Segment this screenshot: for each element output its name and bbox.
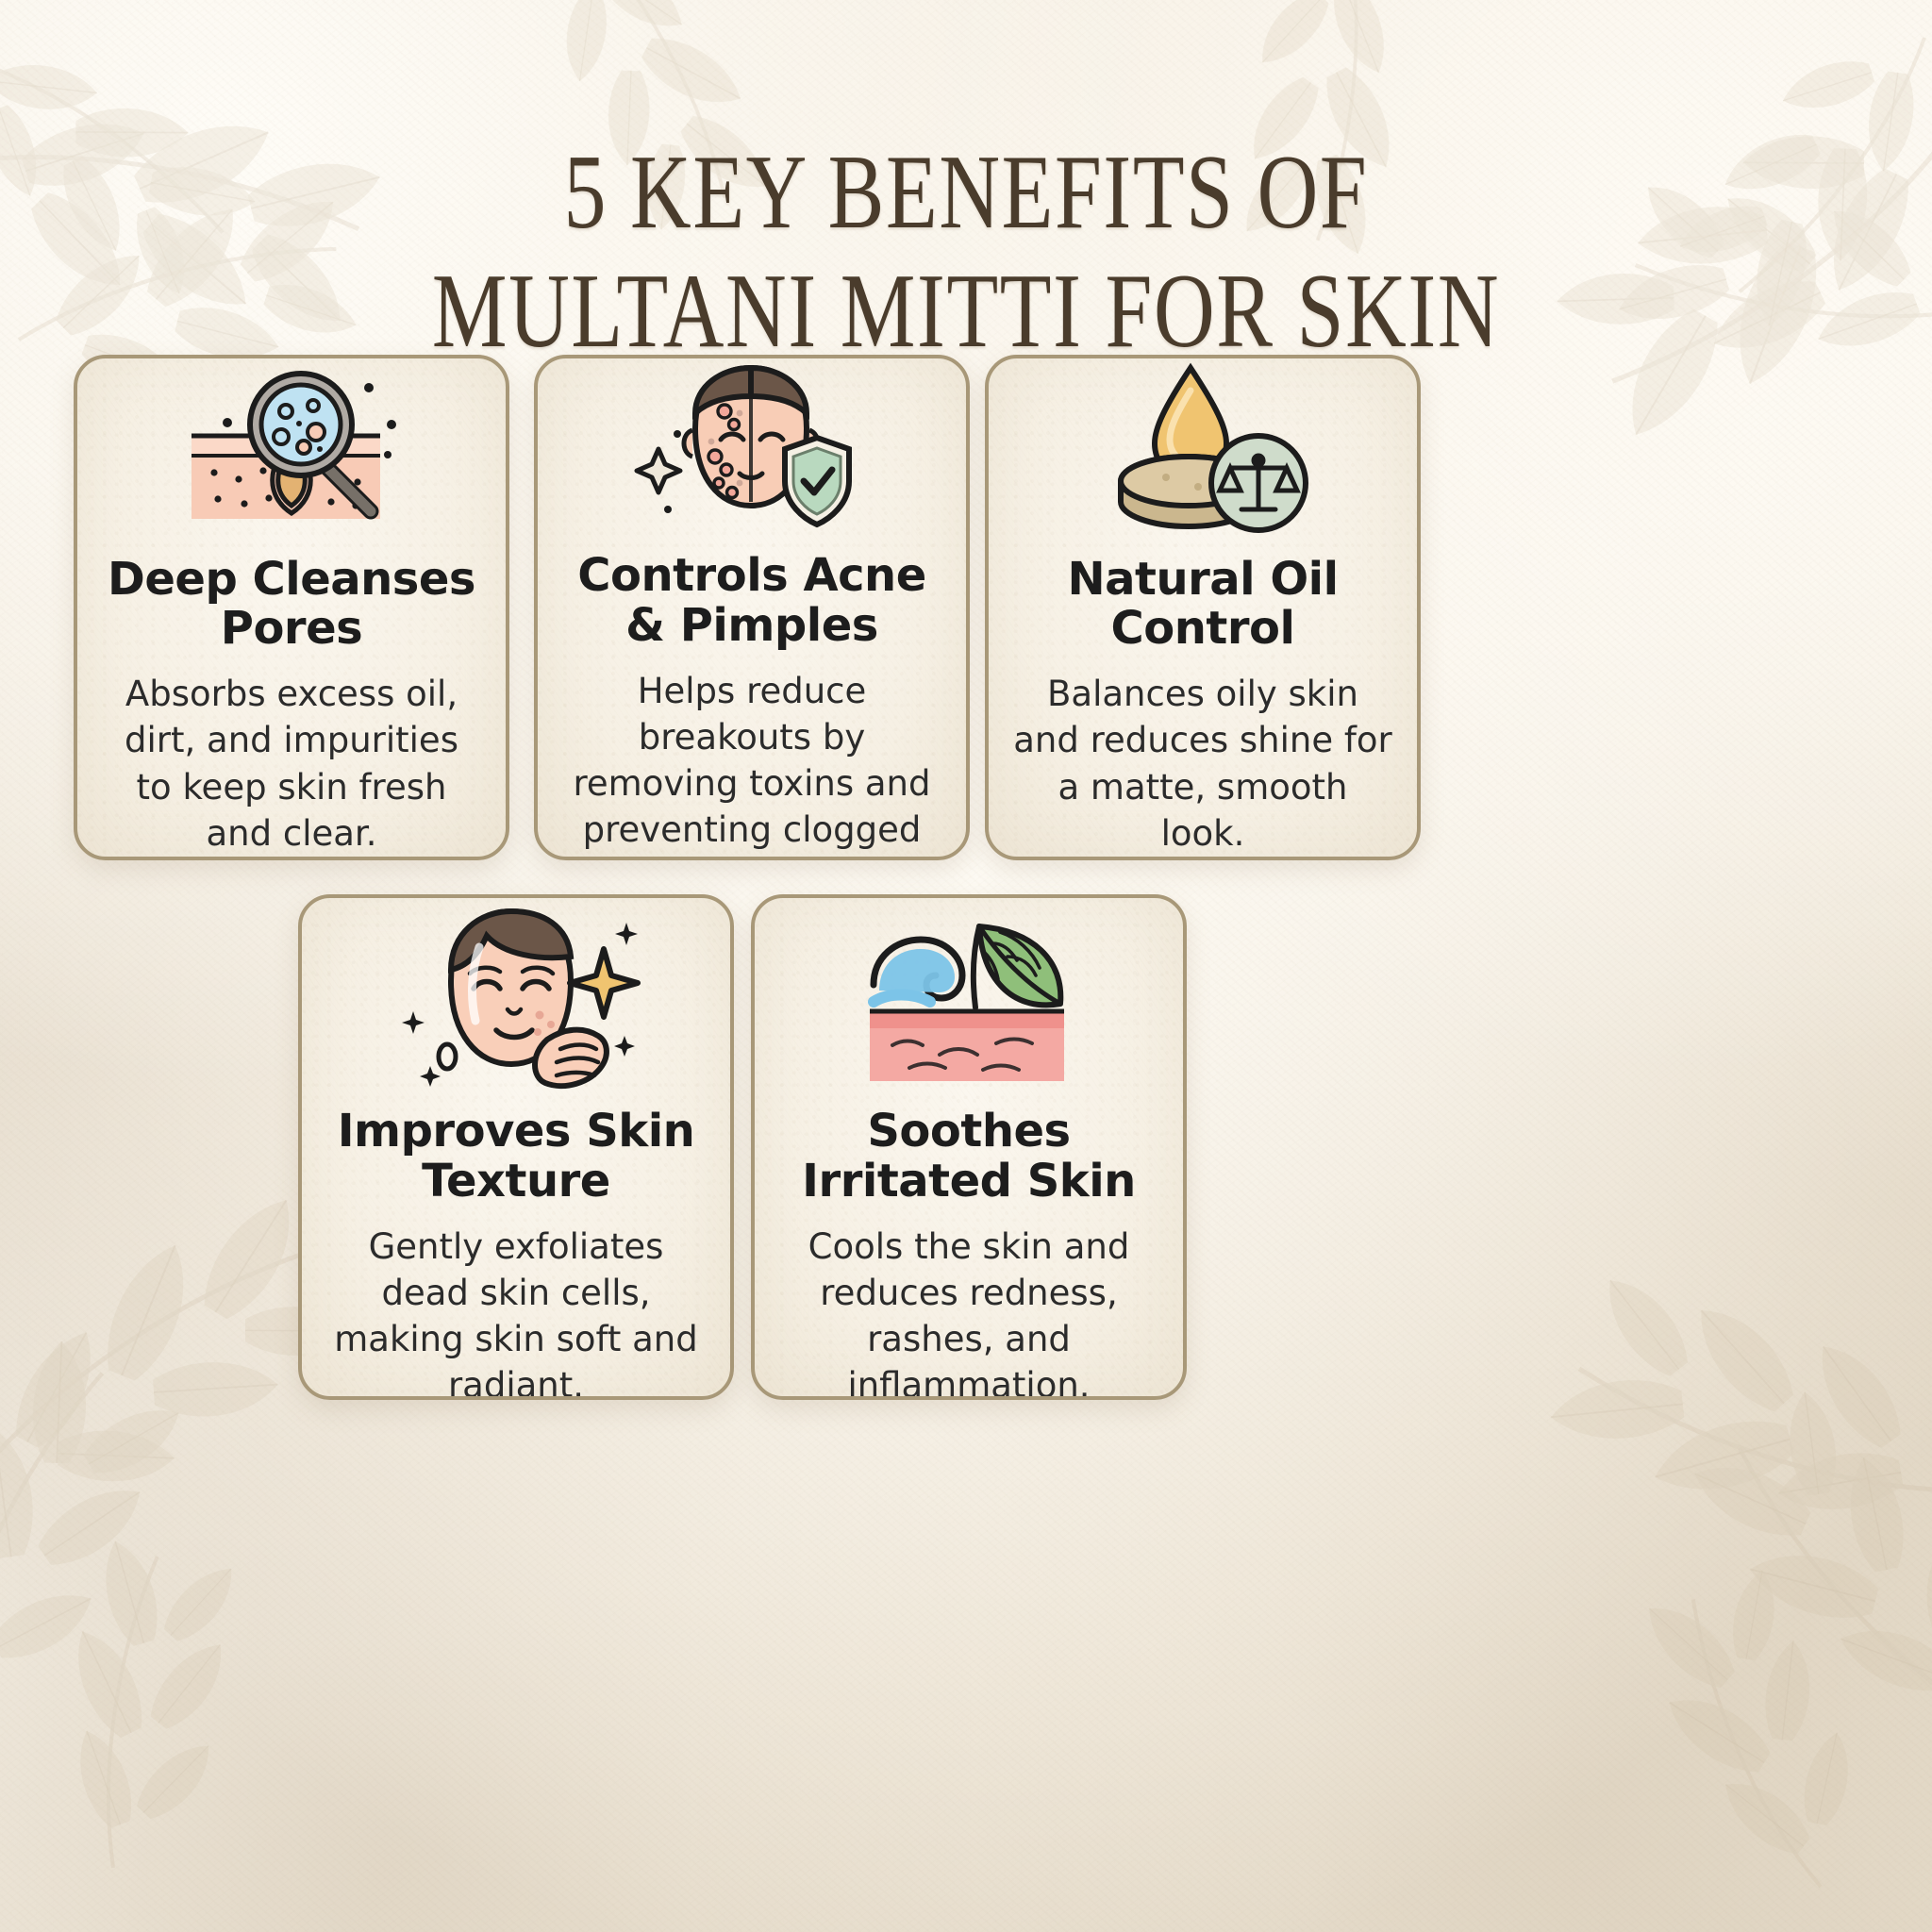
benefit-card-controls-acne-pimples[interactable]: Controls Acne & Pimples Helps reduce bre… [534,355,970,860]
card-heading: Soothes Irritated Skin [755,1107,1183,1207]
magnifier-pore-skin-icon [169,362,414,537]
wave-leaf-soothe-icon [841,898,1096,1101]
oil-drop-balance-icon [1085,362,1321,537]
card-body: Balances oily skin and reduces shine for… [989,671,1417,857]
card-icon-area [755,898,1183,1101]
card-heading: Improves Skin Texture [302,1107,730,1207]
face-acne-shield-icon [634,358,870,538]
benefit-card-improves-skin-texture[interactable]: Improves Skin Texture Gently exfoliates … [298,894,734,1400]
card-icon-area [538,358,966,538]
benefit-card-deep-cleanses-pores[interactable]: Deep Cleanses Pores Absorbs excess oil, … [74,355,509,860]
card-body: Gently exfoliates dead skin cells, makin… [302,1224,730,1400]
card-body: Helps reduce breakouts by removing toxin… [538,668,966,860]
card-heading: Natural Oil Control [989,555,1417,655]
benefit-card-natural-oil-control[interactable]: Natural Oil Control Balances oily skin a… [985,355,1421,860]
card-icon-area [77,358,506,541]
benefit-card-soothes-irritated-skin[interactable]: Soothes Irritated Skin Cools the skin an… [751,894,1187,1400]
page-title-line-2: MULTANI MITTI FOR SKIN [193,260,1739,364]
card-body: Absorbs excess oil, dirt, and impurities… [77,671,506,857]
card-icon-area [989,358,1417,541]
page-title: 5 KEY BENEFITS OF MULTANI MITTI FOR SKIN [0,142,1932,364]
page-title-line-1: 5 KEY BENEFITS OF [193,142,1739,245]
card-heading: Deep Cleanses Pores [77,555,506,655]
face-exfoliate-sparkle-icon [389,898,643,1101]
card-body: Cools the skin and reduces redness, rash… [755,1224,1183,1400]
card-icon-area [302,898,730,1101]
card-heading: Controls Acne & Pimples [538,551,966,651]
